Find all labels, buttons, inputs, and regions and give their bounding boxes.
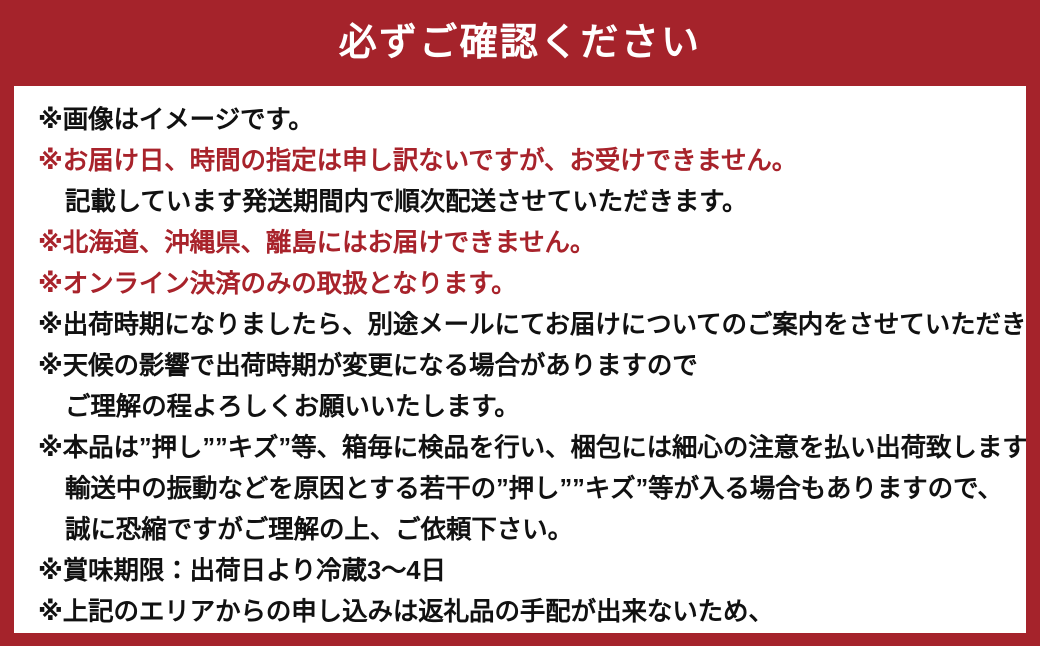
notice-line-image-disclaimer: ※画像はイメージです。 — [24, 100, 1016, 141]
notice-line-no-delivery-date-time: ※お届け日、時間の指定は申し訳ないですが、お受けできません。 — [24, 141, 1016, 182]
page-title: 必ずご確認ください — [339, 24, 702, 62]
notice-line-best-before: ※賞味期限：出荷日より冷蔵3〜4日 — [24, 551, 1016, 592]
notice-banner: 必ずご確認ください ※画像はイメージです。※お届け日、時間の指定は申し訳ないです… — [0, 0, 1040, 646]
notice-line-online-payment-only: ※オンライン決済のみの取扱となります。 — [24, 264, 1016, 305]
notice-body: ※画像はイメージです。※お届け日、時間の指定は申し訳ないですが、お受けできません… — [14, 86, 1026, 633]
notice-line-area-cancellation-reason: ※上記のエリアからの申し込みは返礼品の手配が出来ないため、 — [24, 592, 1016, 633]
notice-line-excluded-areas: ※北海道、沖縄県、離島にはお届けできません。 — [24, 223, 1016, 264]
notice-line-weather-delay: ※天候の影響で出荷時期が変更になる場合がありますので — [24, 346, 1016, 387]
notice-line-request-understanding: 誠に恐縮ですがご理解の上、ご依頼下さい。 — [24, 510, 1016, 551]
notice-line-weather-delay-understanding: ご理解の程よろしくお願いいたします。 — [24, 387, 1016, 428]
notice-line-inspection-notice: ※本品は”押し””キズ”等、箱毎に検品を行い、梱包には細心の注意を払い出荷致しま… — [24, 428, 1016, 469]
notice-list: ※画像はイメージです。※お届け日、時間の指定は申し訳ないですが、お受けできません… — [24, 100, 1016, 633]
notice-line-shipping-email-notice: ※出荷時期になりましたら、別途メールにてお届けについてのご案内をさせていただきま… — [24, 305, 1016, 346]
notice-line-sequential-shipping: 記載しています発送期間内で順次配送させていただきます。 — [24, 182, 1016, 223]
notice-header: 必ずご確認ください — [0, 0, 1040, 86]
notice-line-transit-damage-notice: 輸送中の振動などを原因とする若干の”押し””キズ”等が入る場合もありますので、 — [24, 469, 1016, 510]
